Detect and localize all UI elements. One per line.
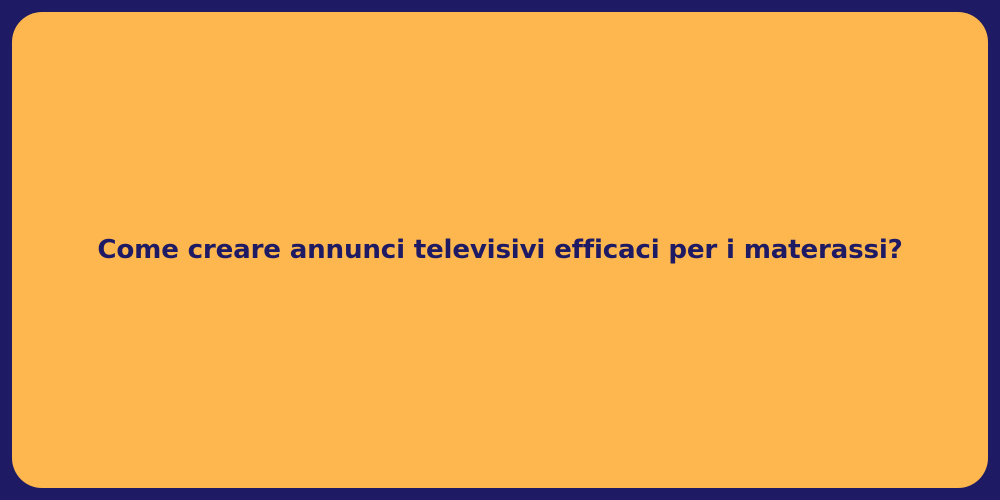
banner-frame: Come creare annunci televisivi efficaci … xyxy=(0,0,1000,500)
banner-card-panel: Come creare annunci televisivi efficaci … xyxy=(12,12,988,488)
banner-headline: Come creare annunci televisivi efficaci … xyxy=(12,234,988,267)
